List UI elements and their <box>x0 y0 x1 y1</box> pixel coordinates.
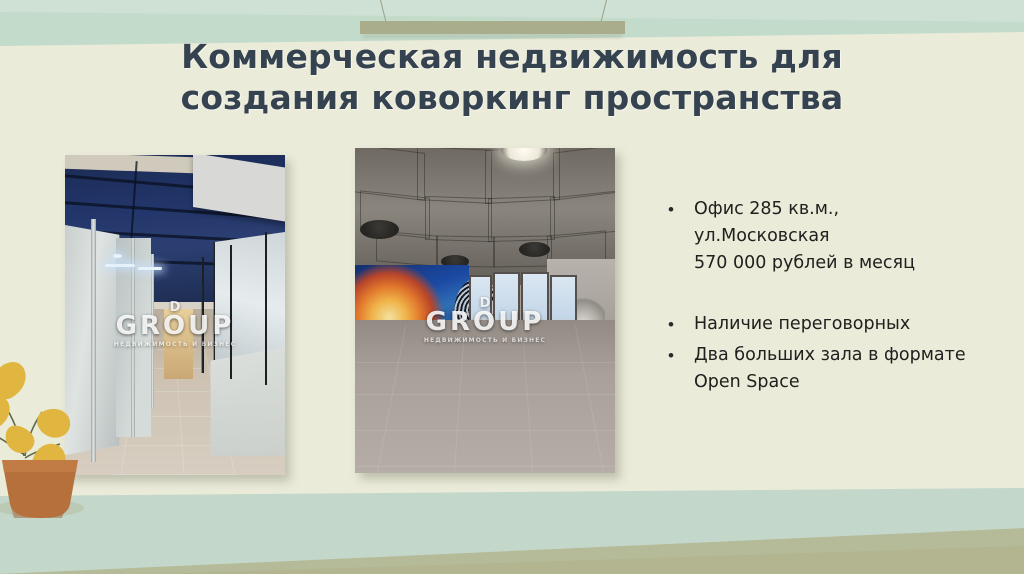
office-corridor-photo: D GROUP НЕДВИЖИМОСТЬ И БИЗНЕС <box>65 155 285 475</box>
slide-title: Коммерческая недвижимость для создания к… <box>92 36 932 118</box>
bullet-marker-icon: • <box>668 196 694 277</box>
office-corridor-photo-image: D GROUP НЕДВИЖИМОСТЬ И БИЗНЕС <box>65 155 285 475</box>
bullet-list: • Офис 285 кв.м., ул.Московская 570 000 … <box>668 196 1008 400</box>
bullet-text: Два больших зала в формате Open Space <box>694 342 966 396</box>
slide-canvas: Коммерческая недвижимость для создания к… <box>0 0 1024 574</box>
hanging-sign-banner <box>360 21 625 34</box>
bullet-item: • Офис 285 кв.м., ул.Московская 570 000 … <box>668 196 1008 277</box>
open-space-hall-photo-image: D GROUP НЕДВИЖИМОСТЬ И БИЗНЕС <box>355 148 615 473</box>
bullet-text: Наличие переговорных <box>694 311 910 338</box>
bullet-item: • Два больших зала в формате Open Space <box>668 342 1008 396</box>
open-space-hall-photo: D GROUP НЕДВИЖИМОСТЬ И БИЗНЕС <box>355 148 615 473</box>
bullet-item: • Наличие переговорных <box>668 311 1008 338</box>
potted-plant-decoration <box>0 332 90 522</box>
bullet-marker-icon: • <box>668 311 694 338</box>
bullet-marker-icon: • <box>668 342 694 396</box>
bullet-text: Офис 285 кв.м., ул.Московская 570 000 ру… <box>694 196 915 277</box>
bullet-spacer <box>668 281 1008 311</box>
